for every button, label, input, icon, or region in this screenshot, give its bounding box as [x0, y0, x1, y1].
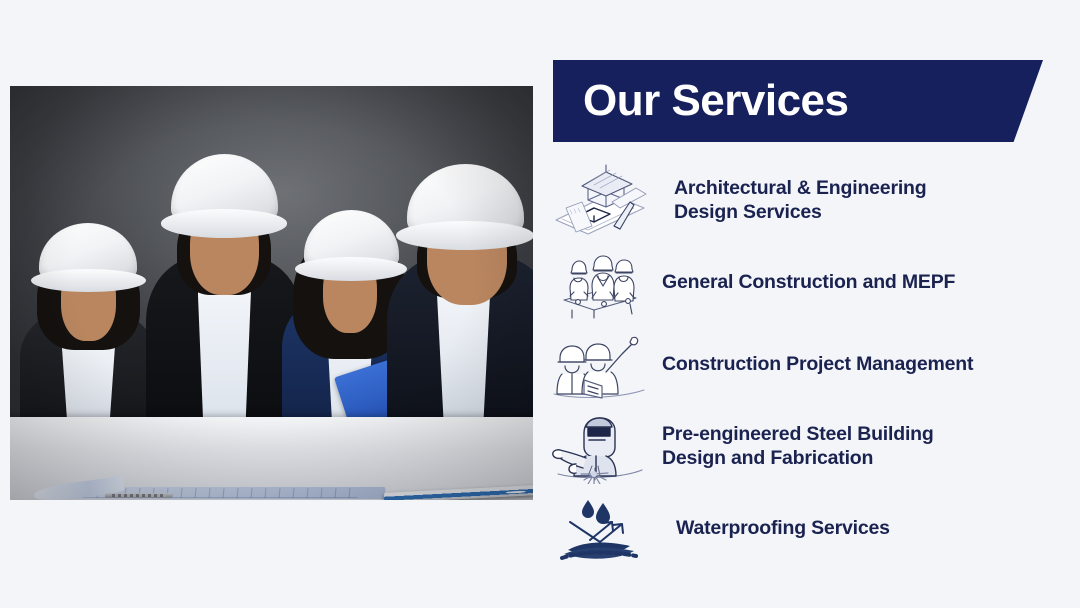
service-item-architectural-engineering[interactable]: Architectural & Engineering Design Servi… — [540, 160, 1080, 242]
site-supervisors-pointing-icon — [548, 328, 652, 402]
service-item-general-construction-mepf[interactable]: General Construction and MEPF — [540, 242, 1080, 324]
service-label: General Construction and MEPF — [662, 271, 955, 295]
page-title: Our Services — [583, 79, 849, 123]
service-item-waterproofing[interactable]: Waterproofing Services — [540, 488, 1080, 570]
service-item-project-management[interactable]: Construction Project Management — [540, 324, 1080, 406]
services-list: Architectural & Engineering Design Servi… — [540, 160, 1080, 570]
team-photo — [10, 86, 533, 500]
service-label: Architectural & Engineering Design Servi… — [674, 177, 926, 225]
right-panel: Our Services — [540, 0, 1080, 608]
service-label: Construction Project Management — [662, 353, 973, 377]
service-label: Waterproofing Services — [676, 517, 890, 541]
services-slide: Our Services — [0, 0, 1080, 608]
construction-team-table-icon — [548, 246, 652, 320]
service-label: Pre-engineered Steel Building Design and… — [662, 423, 934, 471]
photo-vignette — [10, 86, 533, 500]
architectural-blueprint-house-icon — [548, 164, 652, 238]
welder-fabrication-icon — [548, 410, 652, 484]
service-item-steel-building-fabrication[interactable]: Pre-engineered Steel Building Design and… — [540, 406, 1080, 488]
page-title-banner: Our Services — [553, 60, 1043, 142]
waterproofing-membrane-droplets-icon — [548, 492, 652, 566]
